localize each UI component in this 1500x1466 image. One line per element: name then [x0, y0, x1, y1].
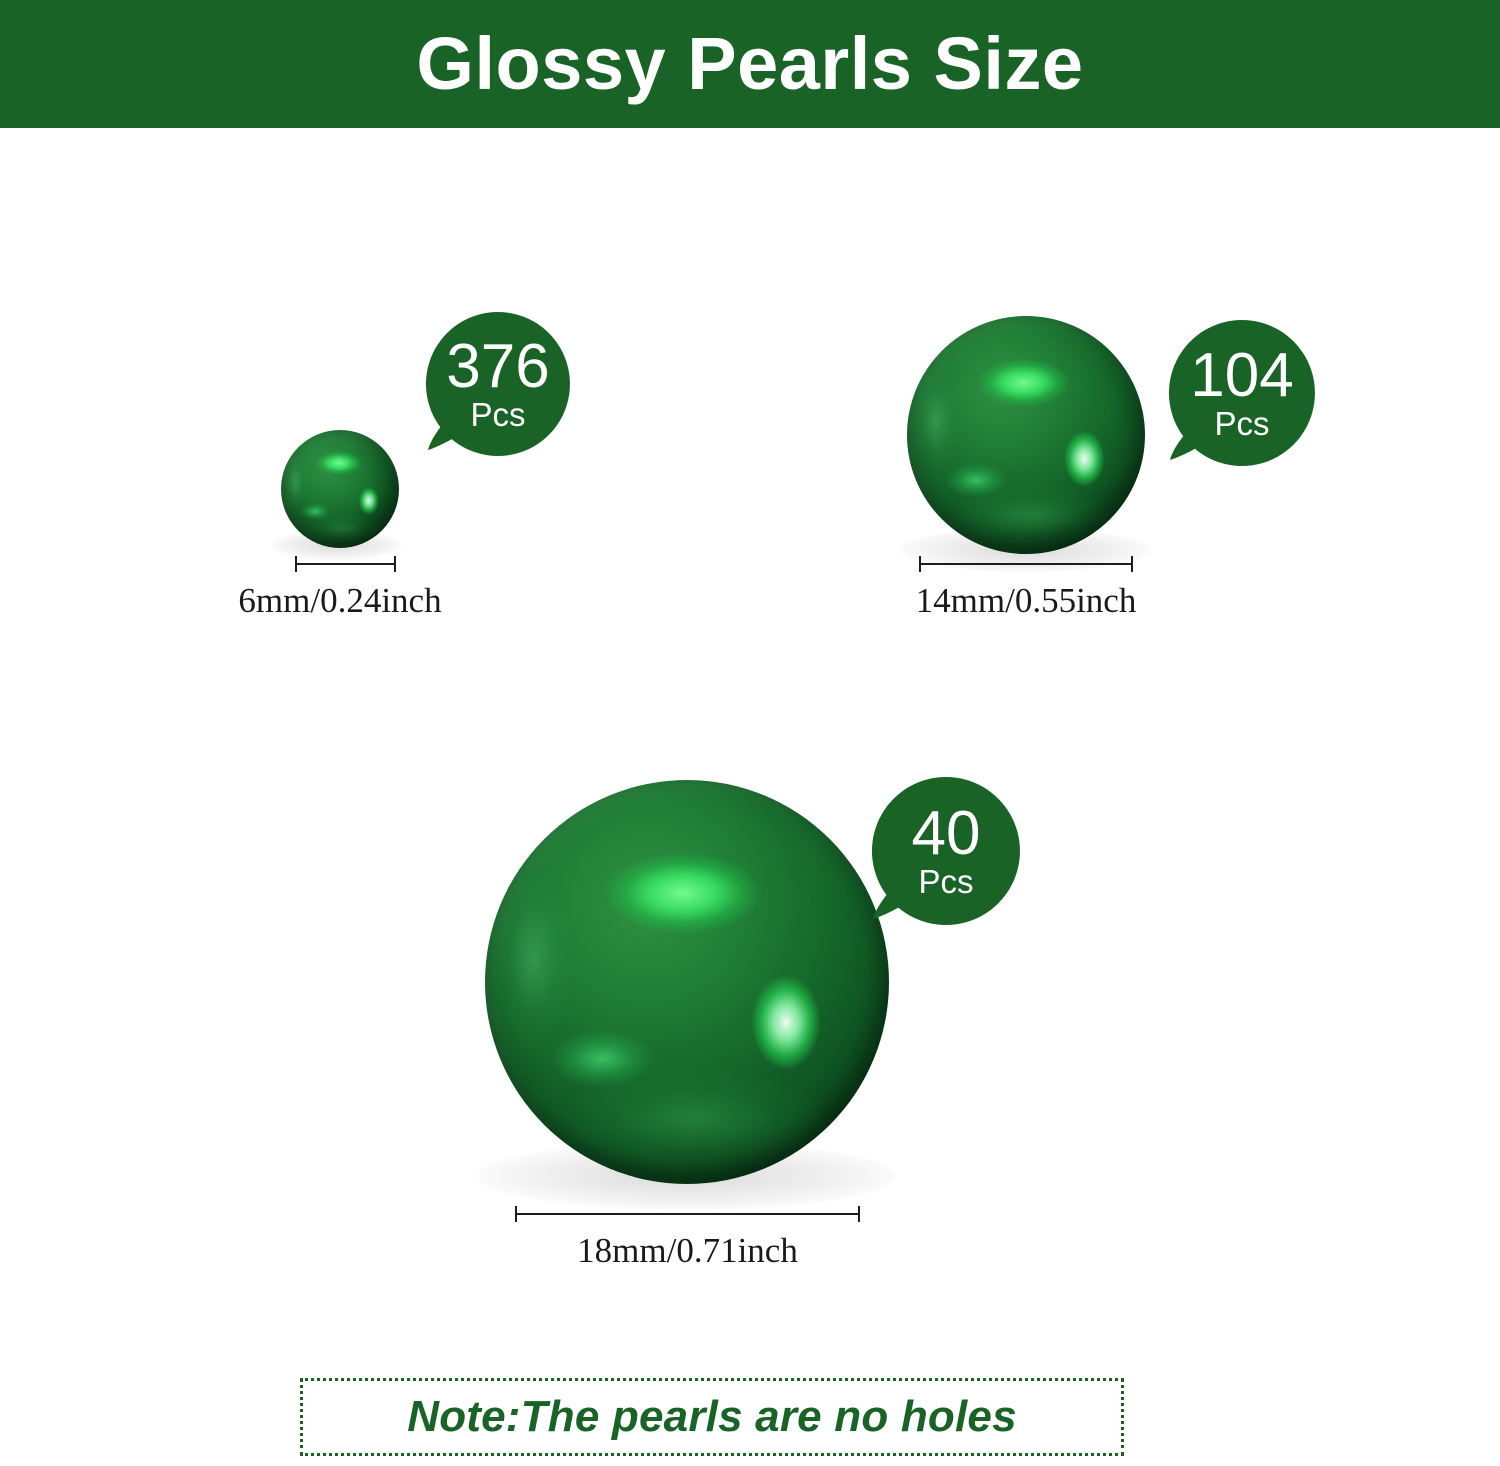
dimension-rule-6mm: [295, 556, 396, 572]
count-bubble-14mm: 104 Pcs: [1167, 318, 1317, 468]
pearl-14mm: [907, 316, 1145, 554]
dimension-bar: [515, 1213, 860, 1215]
dimension-label-6mm: 6mm/0.24inch: [231, 581, 449, 621]
dimension-14mm: 14mm/0.55inch: [895, 556, 1157, 621]
count-bubble-6mm: 376 Pcs: [424, 310, 572, 458]
dimension-rule-14mm: [919, 556, 1133, 572]
dimension-cap-left: [515, 1206, 517, 1222]
dimension-label-18mm: 18mm/0.71inch: [505, 1231, 870, 1271]
count-bubble-18mm: 40 Pcs: [870, 775, 1022, 927]
dimension-cap-left: [295, 556, 297, 572]
pearl-6mm: [281, 430, 399, 548]
page-title: Glossy Pearls Size: [416, 27, 1083, 101]
dimension-label-14mm: 14mm/0.55inch: [895, 581, 1157, 621]
speech-bubble-shape: [1167, 318, 1317, 468]
note-text: Note:The pearls are no holes: [407, 1392, 1017, 1442]
dimension-18mm: 18mm/0.71inch: [505, 1206, 870, 1271]
header-bar: Glossy Pearls Size: [0, 0, 1500, 128]
dimension-rule-18mm: [515, 1206, 860, 1222]
dimension-cap-right: [858, 1206, 860, 1222]
dimension-bar: [295, 563, 396, 565]
note-box: Note:The pearls are no holes: [300, 1378, 1124, 1456]
speech-bubble-shape: [424, 310, 572, 458]
pearl-18mm: [485, 780, 889, 1184]
dimension-cap-left: [919, 556, 921, 572]
dimension-bar: [919, 563, 1133, 565]
speech-bubble-shape: [870, 775, 1022, 927]
infographic-page: Glossy Pearls Size 376 Pcs 6mm/0.24inch …: [0, 0, 1500, 1466]
dimension-6mm: 6mm/0.24inch: [231, 556, 449, 621]
dimension-cap-right: [1131, 556, 1133, 572]
dimension-cap-right: [394, 556, 396, 572]
